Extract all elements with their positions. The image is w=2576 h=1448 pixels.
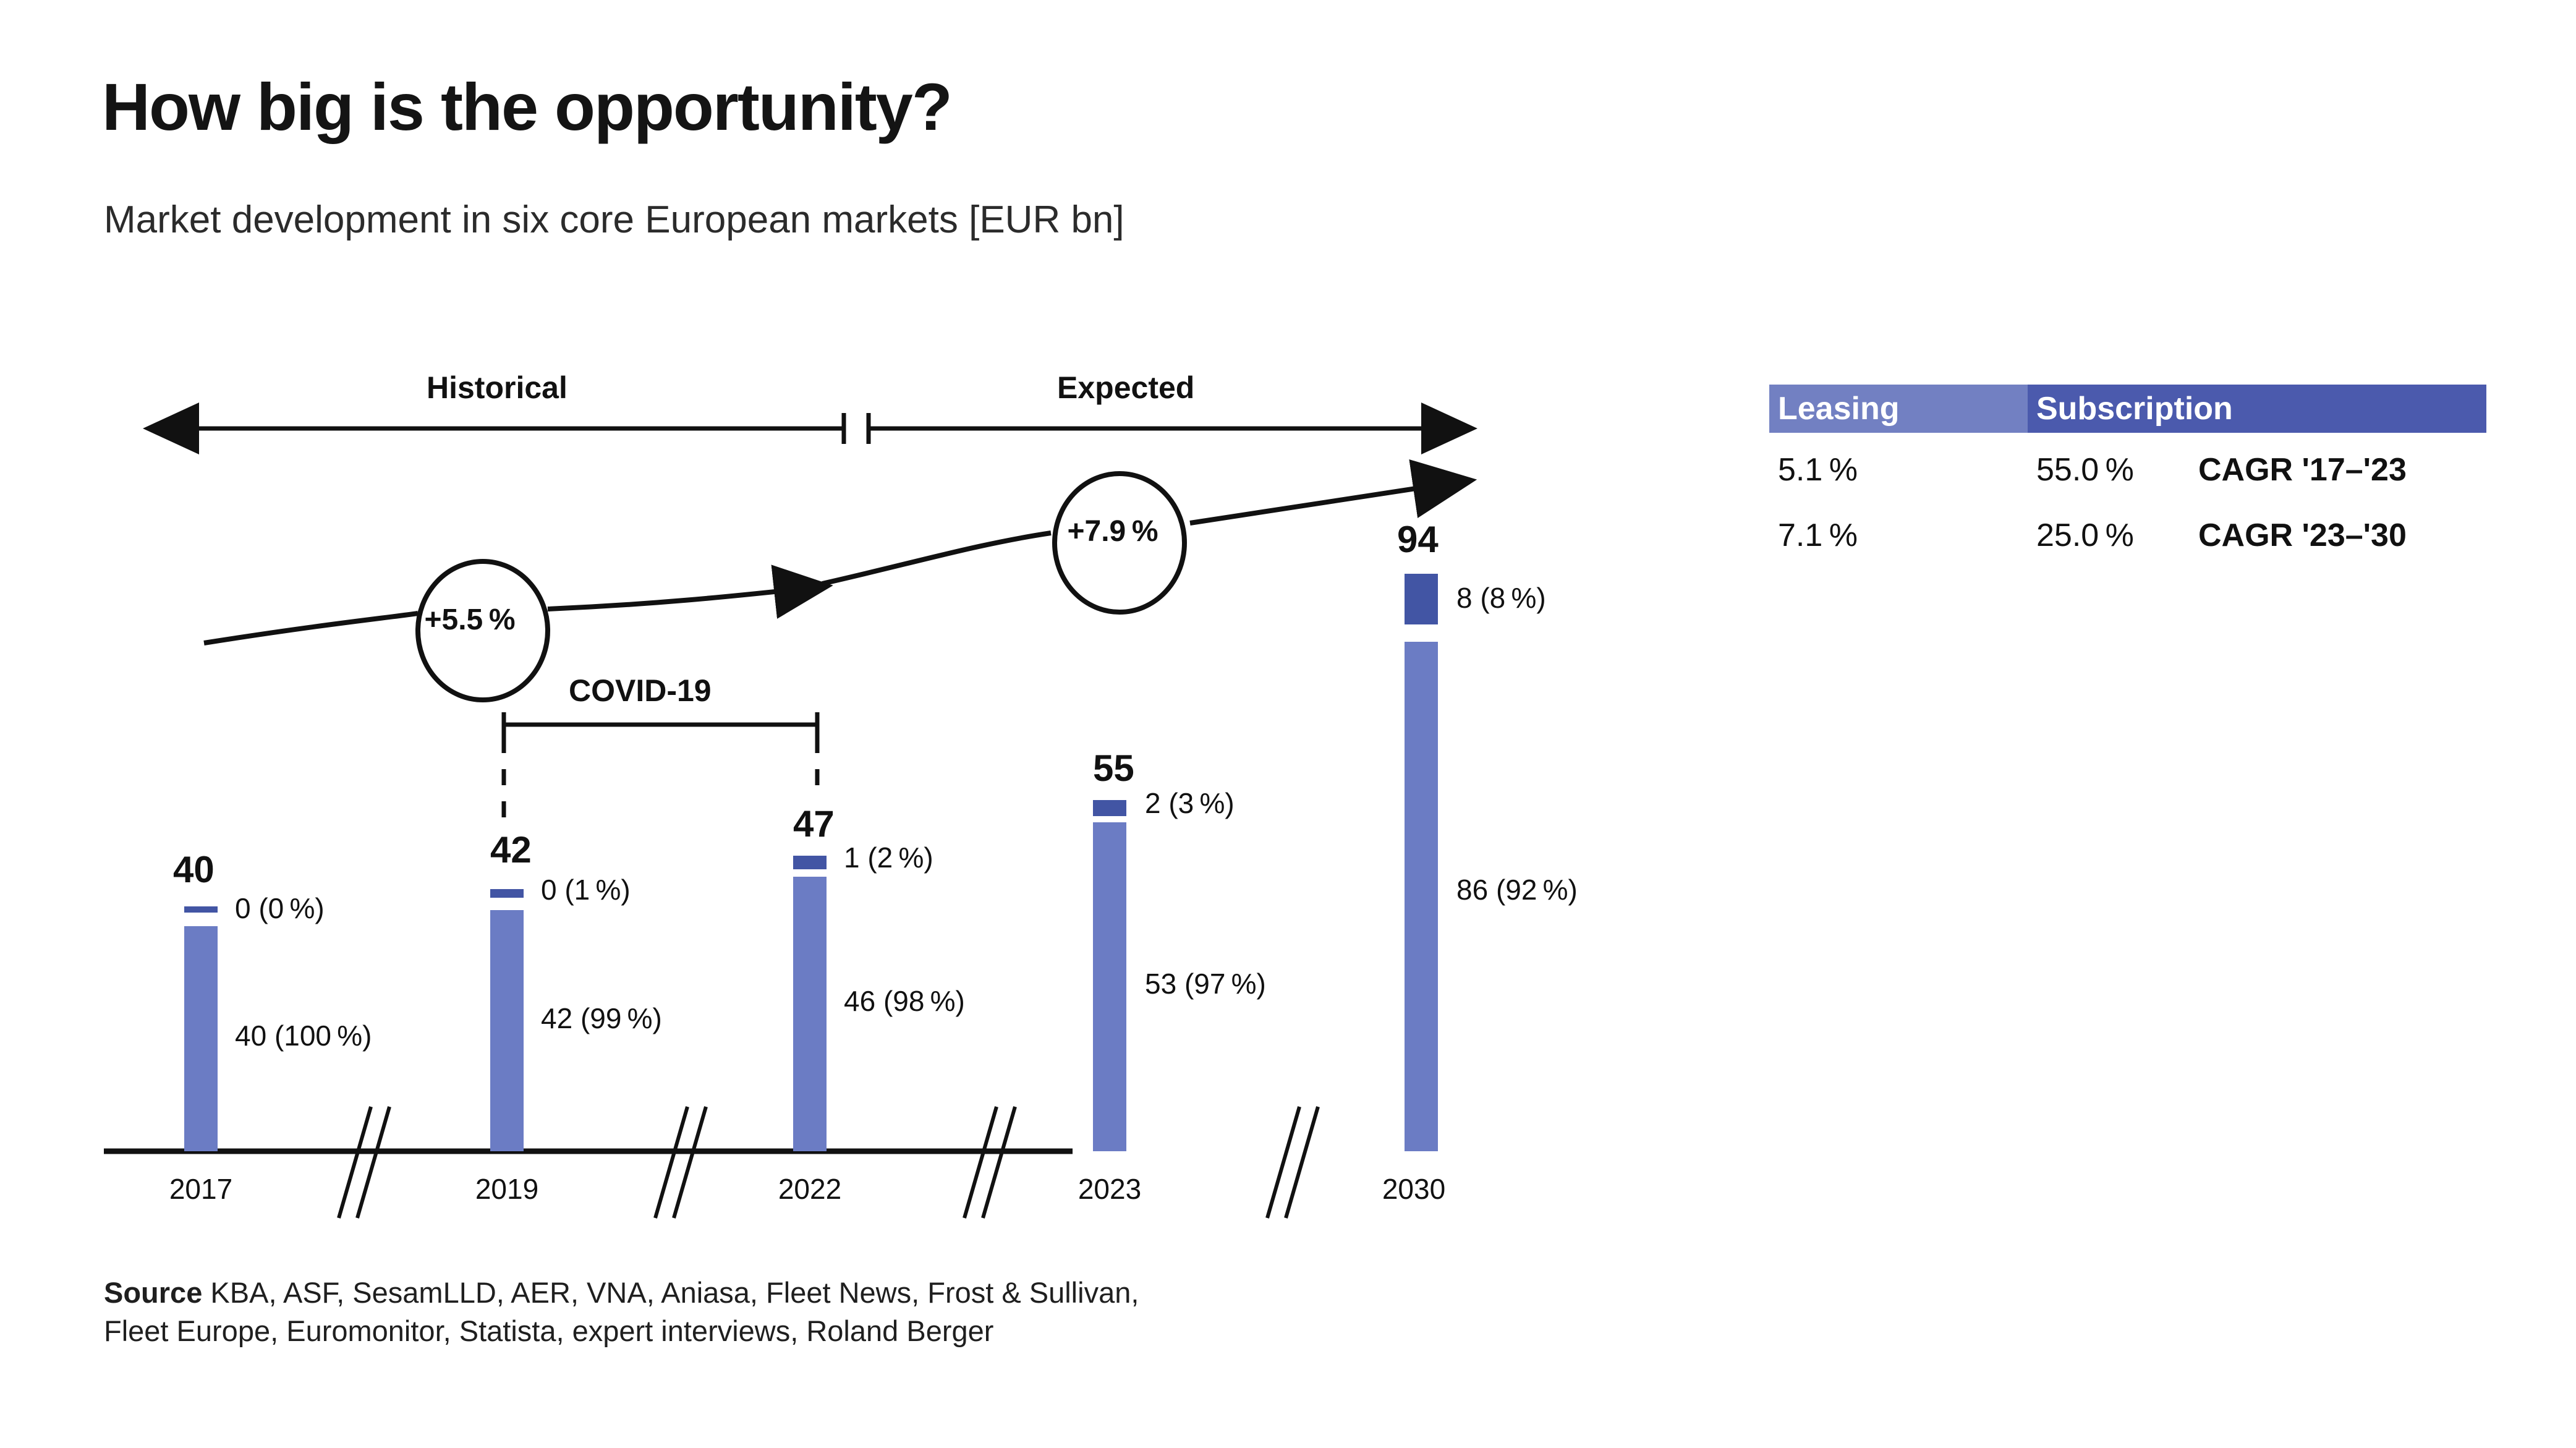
bar-segment-subscription (1405, 574, 1438, 624)
covid-bracket (504, 712, 817, 822)
source-text: KBA, ASF, SesamLLD, AER, VNA, Aniasa, Fl… (104, 1276, 1139, 1347)
bar-segment-subscription-label: 2 (3 %) (1145, 786, 1235, 820)
bar-total-label: 42 (490, 828, 532, 871)
label-covid-19: COVID-19 (569, 673, 712, 709)
bar-segment-leasing (1405, 642, 1438, 1151)
bar-segment-leasing (1093, 822, 1126, 1151)
market-development-chart: Historical Expected COVID-19 +5.5 % +7.9… (0, 0, 1669, 1237)
historical-range-arrow (199, 413, 844, 444)
bar-segment-subscription (184, 906, 218, 913)
bar-segment-subscription-label: 0 (1 %) (541, 873, 631, 906)
cagr-legend-table: Leasing Subscription 5.1 % 55.0 % CAGR '… (1769, 385, 2486, 564)
legend-cell-cagr-period: CAGR '23–'30 (2187, 517, 2407, 554)
bar-total-label: 94 (1397, 518, 1439, 561)
cagr-bubble-historical-text: +5.5 % (408, 603, 532, 637)
bar-segment-leasing-label: 86 (92 %) (1456, 873, 1578, 906)
x-axis-tick-2019: 2019 (439, 1172, 575, 1206)
legend-cell-subscription-value: 55.0 % (2028, 451, 2187, 488)
bar-segment-subscription (490, 889, 524, 898)
bar-segment-leasing-label: 42 (99 %) (541, 1002, 662, 1035)
x-axis-tick-2017: 2017 (133, 1172, 269, 1206)
bar-total-label: 47 (793, 803, 835, 845)
bar-segment-subscription (1093, 800, 1126, 816)
bar-segment-leasing-label: 46 (98 %) (844, 984, 965, 1018)
legend-header-leasing: Leasing (1769, 385, 2028, 433)
expected-range-arrow (869, 413, 1434, 444)
legend-cell-subscription-value: 25.0 % (2028, 517, 2187, 554)
bar-segment-leasing-label: 40 (100 %) (235, 1019, 372, 1052)
bar-segment-leasing (184, 926, 218, 1151)
bar-segment-leasing-label: 53 (97 %) (1145, 967, 1266, 1000)
x-axis-tick-2023: 2023 (1042, 1172, 1178, 1206)
label-historical: Historical (427, 370, 567, 406)
x-axis-tick-2022: 2022 (742, 1172, 878, 1206)
legend-table-row: 7.1 % 25.0 % CAGR '23–'30 (1769, 507, 2486, 564)
growth-trend-line (204, 487, 1428, 643)
legend-cell-leasing-value: 5.1 % (1769, 451, 2028, 488)
x-axis-tick-2030: 2030 (1346, 1172, 1482, 1206)
bar-segment-subscription-label: 8 (8 %) (1456, 581, 1546, 615)
cagr-bubble-expected-text: +7.9 % (1051, 514, 1175, 548)
source-footnote: Source KBA, ASF, SesamLLD, AER, VNA, Ani… (104, 1274, 1139, 1350)
bar-segment-leasing (490, 910, 524, 1151)
slide-canvas: How big is the opportunity? Market devel… (0, 0, 2576, 1448)
label-expected: Expected (1057, 370, 1194, 406)
bar-segment-subscription (793, 856, 827, 869)
legend-table-row: 5.1 % 55.0 % CAGR '17–'23 (1769, 441, 2486, 498)
bar-segment-leasing (793, 877, 827, 1151)
legend-table-header-row: Leasing Subscription (1769, 385, 2486, 433)
bar-segment-subscription-label: 1 (2 %) (844, 841, 933, 874)
bar-total-label: 40 (173, 848, 215, 891)
bar-total-label: 55 (1093, 747, 1134, 790)
legend-cell-cagr-period: CAGR '17–'23 (2187, 451, 2407, 488)
source-label: Source (104, 1276, 202, 1309)
legend-header-subscription: Subscription (2028, 385, 2486, 433)
legend-cell-leasing-value: 7.1 % (1769, 517, 2028, 554)
bar-segment-subscription-label: 0 (0 %) (235, 892, 325, 925)
